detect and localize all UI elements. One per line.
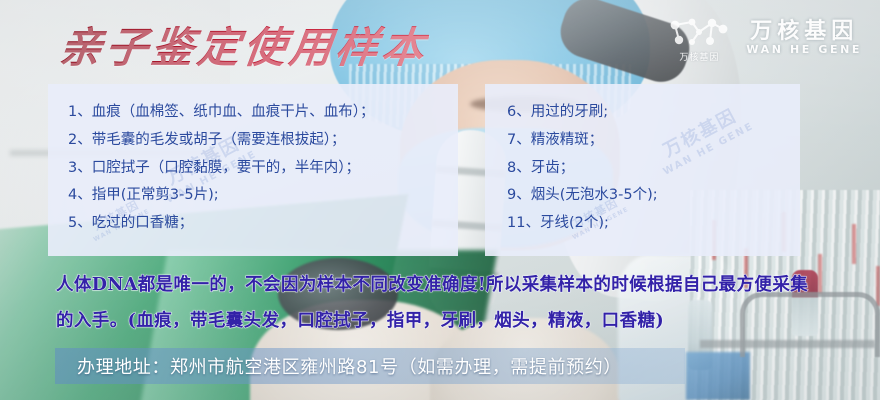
list-item: 4、指甲(正常剪3-5片); xyxy=(68,182,458,210)
list-item: 9、烟头(无泡水3-5个); xyxy=(507,182,800,210)
paragraph-line-2: 的入手。(血痕，带毛囊头发，口腔拭子，指甲，牙刷，烟头，精液，口香糖) xyxy=(56,304,862,340)
logo-wordmark: 万核基因 WAN HE GENE xyxy=(746,20,862,57)
list-item: 2、带毛囊的毛发或胡子（需要连根拔起）； xyxy=(68,127,458,155)
list-item: 7、精液精斑； xyxy=(507,127,800,155)
logo-mark-label: 万核基因 xyxy=(666,50,732,63)
list-item: 6、用过的牙刷; xyxy=(507,99,800,127)
list-item: 5、吃过的口香糖； xyxy=(68,210,458,238)
list-item: 11、牙线(2个); xyxy=(507,210,800,238)
sample-list-panel-left: 万核基因 WAN HE GENE 万核基因 WAN HE GENE 1、血痕（血… xyxy=(48,84,458,256)
paragraph-line-1: 人体DNA都是唯一的，不会因为样本不同改变准确度!所以采集样本的时候根据自己最方… xyxy=(56,268,862,304)
list-item: 1、血痕（血棉签、纸巾血、血痕干片、血布）； xyxy=(68,99,458,127)
poster-root: 亲子鉴定使用样本 xyxy=(0,0,880,400)
sample-list-left: 1、血痕（血棉签、纸巾血、血痕干片、血布）； 2、带毛囊的毛发或胡子（需要连根拔… xyxy=(48,84,458,238)
logo-name-cn: 万核基因 xyxy=(750,20,858,45)
sample-list-right: 6、用过的牙刷; 7、精液精斑； 8、牙齿； 9、烟头(无泡水3-5个); 11… xyxy=(485,84,800,238)
description-paragraph: 人体DNA都是唯一的，不会因为样本不同改变准确度!所以采集样本的时候根据自己最方… xyxy=(56,268,862,340)
address-banner: 办理地址：郑州市航空港区雍州路81号（如需办理，需提前预约） xyxy=(55,348,685,384)
dna-molecule-icon: 万核基因 xyxy=(666,16,732,60)
address-text: 办理地址：郑州市航空港区雍州路81号（如需办理，需提前预约） xyxy=(55,353,622,379)
list-item: 3、口腔拭子（口腔黏膜，要干的，半年内）； xyxy=(68,155,458,183)
sample-list-panel-right: 万核基因 WAN HE GENE 万核基因 WAN HE GENE 6、用过的牙… xyxy=(485,84,800,256)
brand-logo: 万核基因 万核基因 WAN HE GENE xyxy=(666,16,862,60)
page-title: 亲子鉴定使用样本 xyxy=(56,14,432,75)
logo-name-en: WAN HE GENE xyxy=(746,44,862,56)
list-item: 8、牙齿； xyxy=(507,155,800,183)
